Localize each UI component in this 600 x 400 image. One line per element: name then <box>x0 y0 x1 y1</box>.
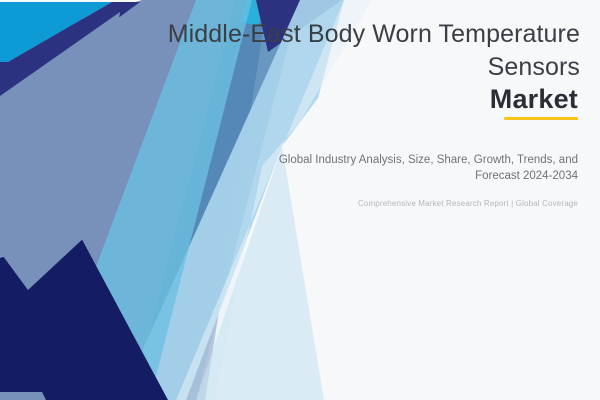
market-accent-rule <box>504 117 578 120</box>
report-subtitle: Global Industry Analysis, Size, Share, G… <box>278 152 578 184</box>
report-cover: Middle-East Body Worn Temperature Sensor… <box>0 0 600 400</box>
page-title: Middle-East Body Worn Temperature Sensor… <box>130 18 580 84</box>
report-footnote: Comprehensive Market Research Report | G… <box>248 198 578 210</box>
market-label: Market <box>490 84 578 115</box>
